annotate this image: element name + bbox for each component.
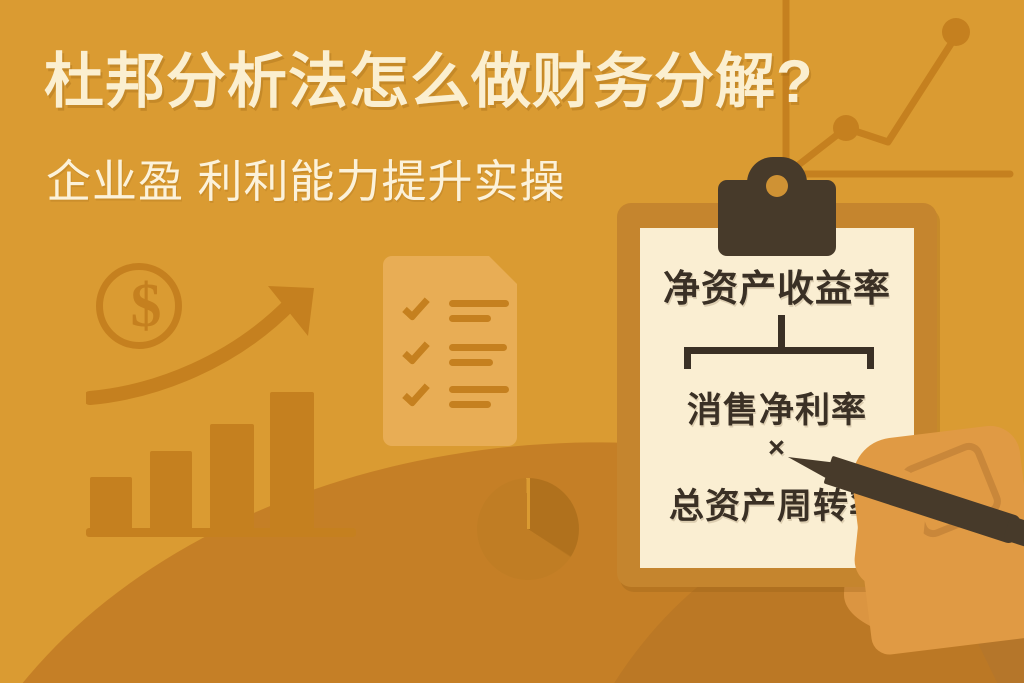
tree-stem	[778, 315, 785, 347]
text-line	[449, 386, 509, 393]
bar-4	[270, 392, 314, 530]
tree-left-leg	[684, 347, 691, 369]
text-line	[449, 401, 491, 408]
formula-root-label: 净资产收益率	[640, 258, 914, 312]
poster-canvas: 杜邦分析法怎么做财务分解? 企业盈 利利能力提升实操 $	[0, 0, 1024, 683]
bar-1	[90, 477, 132, 530]
document-fold-corner	[489, 256, 517, 284]
check-icon	[402, 337, 430, 366]
text-line	[449, 359, 493, 366]
check-icon	[402, 293, 430, 322]
checklist-document-icon	[383, 256, 517, 446]
formula-factor-1-label: 消售净利率	[640, 382, 914, 433]
pie-chart-icon	[477, 478, 579, 580]
text-line	[449, 315, 491, 322]
pie-slice-divider	[527, 478, 530, 529]
text-line	[449, 344, 507, 351]
tree-crossbar	[684, 347, 874, 354]
bar-3	[210, 424, 254, 530]
clipboard-clip-hole	[766, 175, 788, 197]
bar-chart-baseline	[86, 528, 356, 537]
check-icon	[402, 379, 430, 408]
text-line	[449, 300, 509, 307]
tree-right-leg	[867, 347, 874, 369]
page-subtitle: 企业盈 利利能力提升实操	[46, 158, 566, 205]
page-title: 杜邦分析法怎么做财务分解?	[44, 52, 984, 112]
bar-2	[150, 451, 192, 530]
